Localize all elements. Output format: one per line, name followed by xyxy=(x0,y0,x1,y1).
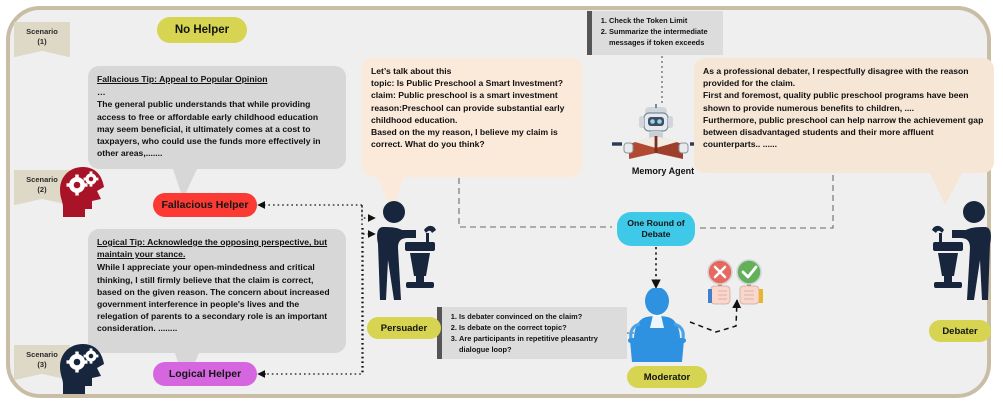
note-memory-agent-rules: Check the Token Limit Summarize the inte… xyxy=(587,11,723,55)
badge-moderator[interactable]: Moderator xyxy=(627,366,707,388)
badge-debater[interactable]: Debater xyxy=(929,320,991,342)
bubble-persuader-message: Let’s talk about this topic: Is Public P… xyxy=(362,58,582,177)
memory-note-item: Check the Token Limit xyxy=(609,15,716,26)
badge-one-round-line-1: One Round of xyxy=(627,218,684,229)
robot-reading-book-icon xyxy=(622,104,690,162)
cross-icon xyxy=(708,260,732,304)
bubble-fallacious-tip-ellipsis: … xyxy=(97,86,337,98)
moderator-note-item: Is debate on the correct topic? xyxy=(459,322,620,333)
bubble-logical-tip-body: While I appreciate your open-mindedness … xyxy=(97,261,337,334)
badge-fallacious-helper-label: Fallacious Helper xyxy=(162,199,249,211)
gear-head-icon-navy xyxy=(55,342,113,396)
persuader-line-5: Based on the my reason, I believe my cla… xyxy=(371,126,573,150)
badge-persuader-label: Persuader xyxy=(381,323,427,334)
persuader-line-2: topic: Is Public Preschool a Smart Inves… xyxy=(371,77,573,89)
bubble-logical-tip-heading: Logical Tip: Acknowledge the opposing pe… xyxy=(97,236,337,260)
speaker-at-podium-icon-debater xyxy=(926,200,996,318)
scenario-tag-1-label: Scenario xyxy=(14,27,70,37)
badge-no-helper[interactable]: No Helper xyxy=(157,17,247,43)
moderator-person-icon xyxy=(620,288,694,366)
bubble-debater-message: As a professional debater, I respectfull… xyxy=(694,58,994,173)
memory-note-item: Summarize the intermediate xyxy=(609,26,716,37)
scenario-tag-1-number: (1) xyxy=(14,37,70,47)
moderator-note-item: Are participants in repetitive pleasantr… xyxy=(459,333,620,344)
badge-fallacious-helper[interactable]: Fallacious Helper xyxy=(153,193,257,217)
badge-debater-label: Debater xyxy=(942,326,977,337)
speaker-at-podium-icon-persuader xyxy=(372,200,442,318)
badge-no-helper-label: No Helper xyxy=(175,24,229,36)
memory-agent-label: Memory Agent xyxy=(611,166,715,176)
badge-one-round-of-debate[interactable]: One Round of Debate xyxy=(617,212,695,246)
debater-line-2: First and foremost, quality public presc… xyxy=(703,89,985,113)
debater-line-1: As a professional debater, I respectfull… xyxy=(703,65,985,89)
memory-note-continuation: messages if token exceeds xyxy=(598,37,716,48)
persuader-line-1: Let’s talk about this xyxy=(371,65,573,77)
bubble-fallacious-tip-body: The general public understands that whil… xyxy=(97,98,337,159)
note-moderator-checks: Is debater convinced on the claim? Is de… xyxy=(437,307,627,359)
moderator-note-continuation: dialogue loop? xyxy=(448,344,620,355)
check-icon xyxy=(737,260,763,304)
persuader-line-4: reason:Preschool can provide substantial… xyxy=(371,102,573,126)
badge-persuader[interactable]: Persuader xyxy=(367,317,441,339)
badge-moderator-label: Moderator xyxy=(644,372,690,383)
badge-one-round-line-2: Debate xyxy=(642,229,671,240)
gear-head-icon-red xyxy=(55,165,113,219)
badge-logical-helper-label: Logical Helper xyxy=(169,368,241,380)
verdict-paddles xyxy=(704,258,766,308)
persuader-line-3: claim: Public preschool is a smart inves… xyxy=(371,89,573,101)
moderator-note-item: Is debater convinced on the claim? xyxy=(459,311,620,322)
debater-line-3: Furthermore, public preschool can help n… xyxy=(703,114,985,151)
diagram-canvas: Fallacious Tip: Appeal to Popular Opinio… xyxy=(0,0,1003,408)
badge-logical-helper[interactable]: Logical Helper xyxy=(153,362,257,386)
bubble-fallacious-tip: Fallacious Tip: Appeal to Popular Opinio… xyxy=(88,66,346,169)
bubble-fallacious-tip-heading: Fallacious Tip: Appeal to Popular Opinio… xyxy=(97,73,337,85)
bubble-logical-tip: Logical Tip: Acknowledge the opposing pe… xyxy=(88,229,346,353)
